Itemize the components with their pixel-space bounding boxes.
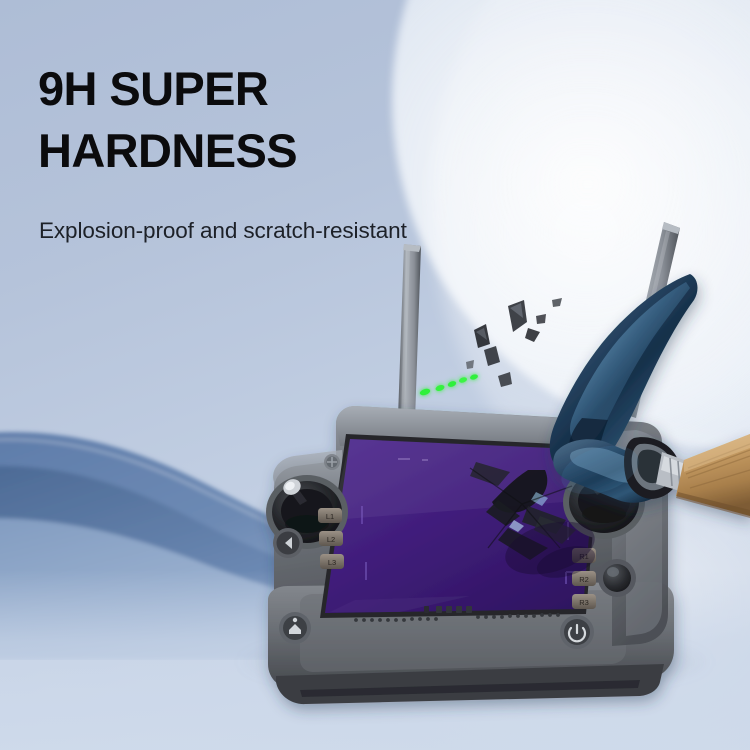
svg-text:L3: L3 [328,558,336,567]
svg-text:R2: R2 [579,575,589,584]
dial-knob [598,559,636,597]
svg-text:R3: R3 [579,598,589,607]
button-l1: L1 [318,508,342,523]
svg-text:L2: L2 [327,535,335,544]
svg-text:L1: L1 [326,512,334,521]
button-l2: L2 [319,531,343,546]
status-leds [419,373,479,396]
antenna-left [398,244,421,420]
return-to-home-button [279,612,311,644]
left-button-group: L1 L2 L3 [318,508,344,569]
screw-left [324,454,340,470]
button-r3: R3 [572,594,596,609]
back-button [273,528,303,558]
scene-illustration: L1 L2 L3 [0,0,750,750]
power-button [560,615,594,649]
promo-banner: 9H SUPER HARDNESS Explosion-proof and sc… [0,0,750,750]
button-l3: L3 [320,554,344,569]
glass-shards [466,298,562,387]
